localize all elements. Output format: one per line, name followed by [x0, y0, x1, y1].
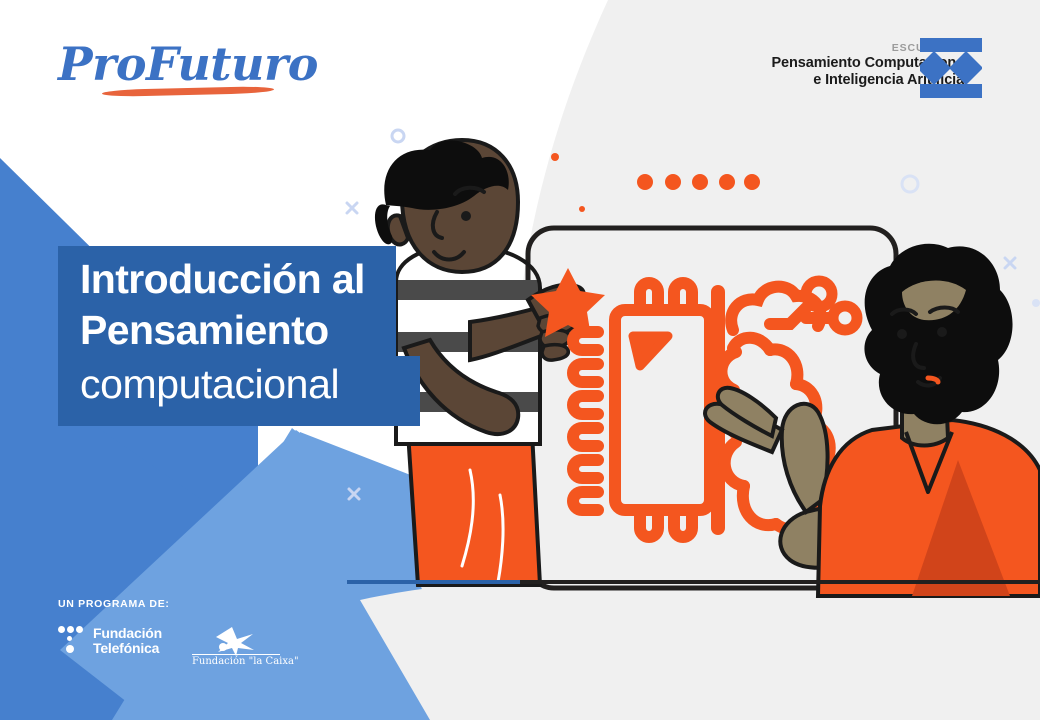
fundacion-telefonica-logo[interactable]: Fundación Telefónica: [58, 626, 162, 656]
title-line-2: Pensamiento: [80, 305, 480, 356]
profuturo-logo[interactable]: ProFuturo: [58, 38, 288, 100]
telefonica-name-line-2: Telefónica: [93, 641, 162, 656]
lacaixa-name: Fundación "la Caixa": [192, 656, 280, 668]
sponsor-logo-row: Fundación Telefónica Fundación "la Caixa…: [58, 626, 280, 674]
title-banner: Introducción al Pensamiento computaciona…: [58, 246, 420, 426]
footer-sponsors: UN PROGRAMA DE: Fundación Telefónica: [58, 598, 358, 688]
lacaixa-star-icon: [192, 626, 280, 656]
telefonica-dots-icon: [58, 626, 84, 656]
title-line-1: Introducción al: [80, 254, 480, 305]
page-title: Introducción al Pensamiento computaciona…: [80, 254, 480, 412]
lacaixa-rule: [192, 654, 280, 655]
title-line-3: computacional: [80, 356, 480, 412]
telefonica-name: Fundación Telefónica: [93, 626, 162, 656]
fundacion-lacaixa-logo[interactable]: Fundación "la Caixa": [192, 626, 280, 674]
slide-cover: ProFuturo ESCUELA DE Pensamiento Computa…: [0, 0, 1040, 720]
program-label: UN PROGRAMA DE:: [58, 598, 358, 611]
profuturo-wordmark: ProFuturo: [58, 38, 288, 90]
escuela-diamond-mark-icon: [920, 38, 982, 98]
telefonica-name-line-1: Fundación: [93, 626, 162, 641]
